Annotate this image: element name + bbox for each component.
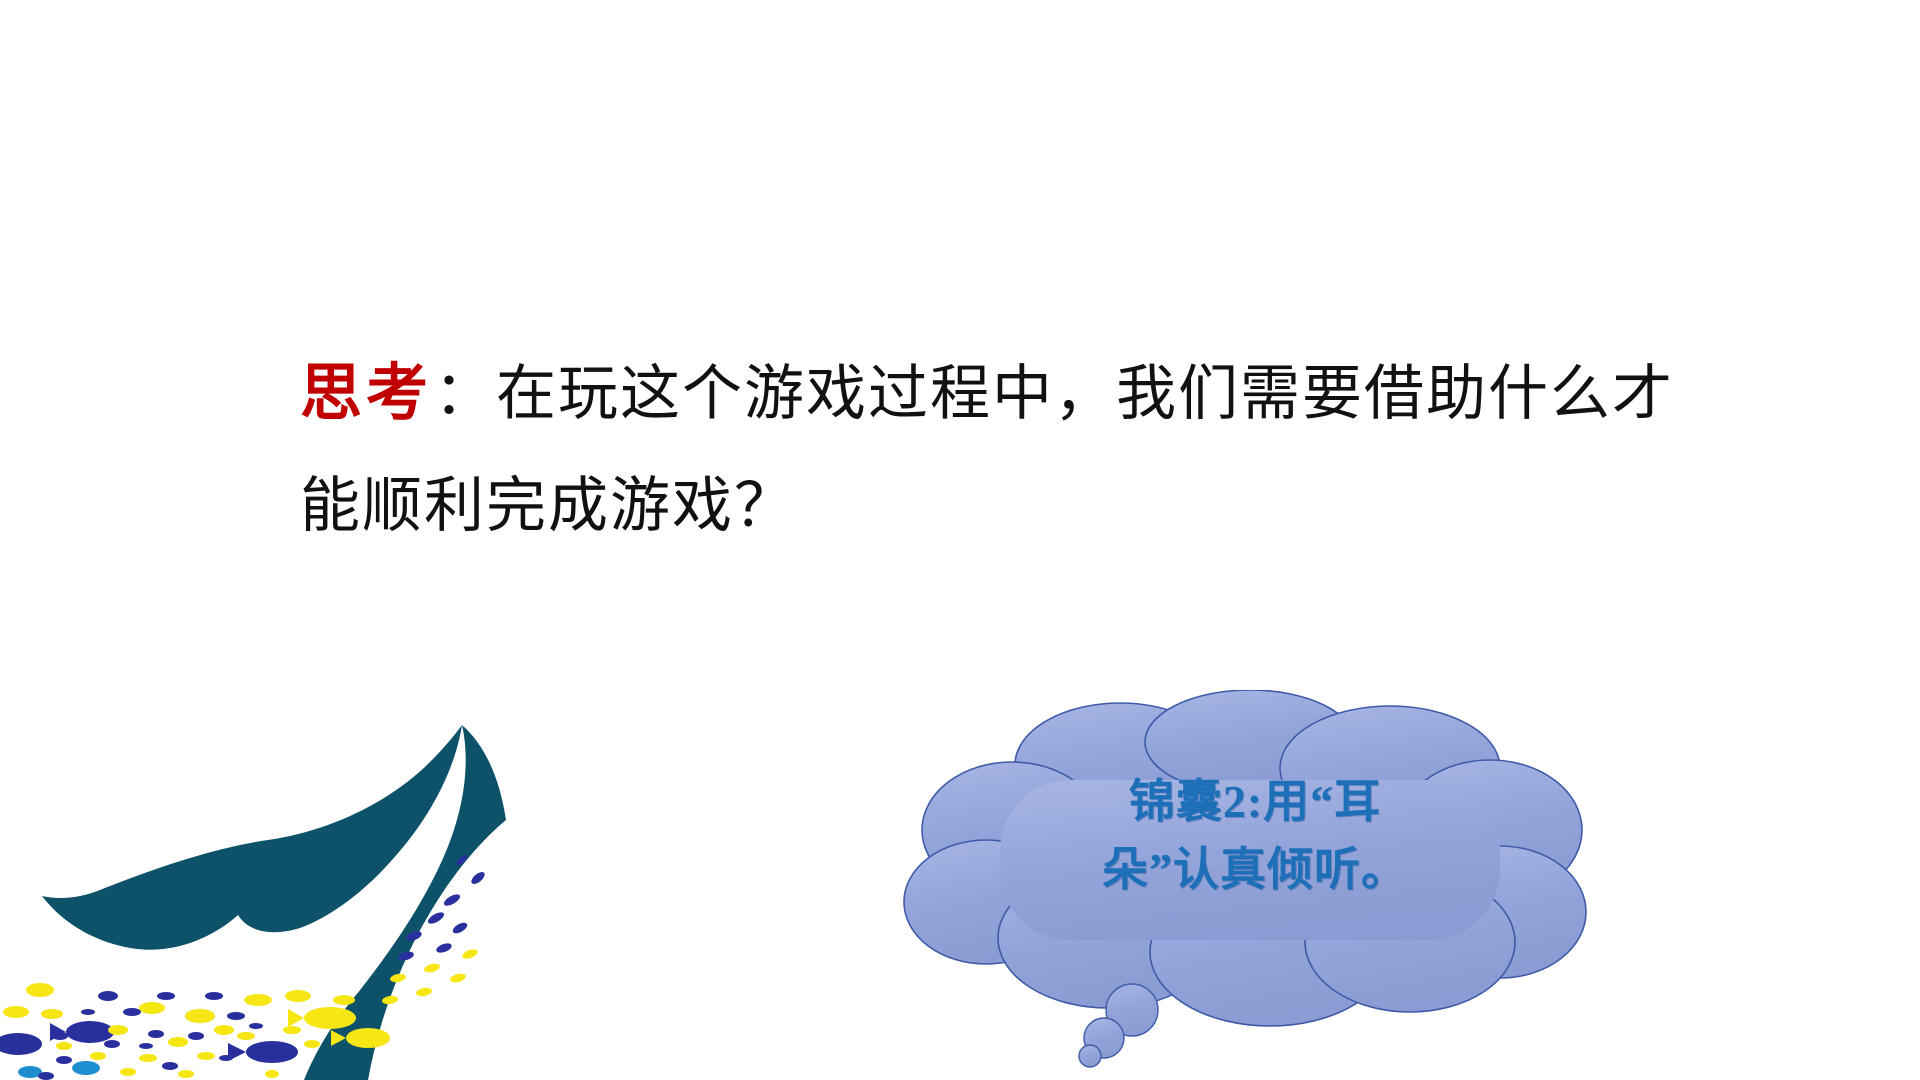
thought-bubble-line-1: 锦囊2:用“耳 bbox=[1040, 768, 1470, 836]
question-text-block: 思考：在玩这个游戏过程中，我们需要借助什么才 能顺利完成游戏？ bbox=[300, 338, 1860, 562]
question-line-2: 能顺利完成游戏？ bbox=[300, 450, 1860, 562]
whale-tail-icon bbox=[42, 725, 506, 1080]
question-line-1-rest: ：在玩这个游戏过程中，我们需要借助什么才 bbox=[434, 361, 1674, 427]
thought-bubble-text: 锦囊2:用“耳 朵”认真倾听。 bbox=[1040, 768, 1470, 904]
fish-school-icon bbox=[0, 853, 487, 1080]
question-emphasis-label: 思考 bbox=[300, 360, 432, 428]
question-line-1: 思考：在玩这个游戏过程中，我们需要借助什么才 bbox=[300, 338, 1860, 450]
thought-bubble-line-2: 朵”认真倾听。 bbox=[1040, 836, 1470, 904]
thought-bubble: 锦囊2:用“耳 朵”认真倾听。 bbox=[890, 690, 1610, 1080]
slide-canvas: 思考：在玩这个游戏过程中，我们需要借助什么才 能顺利完成游戏？ bbox=[0, 0, 1920, 1080]
whale-tail-illustration bbox=[0, 700, 520, 1080]
